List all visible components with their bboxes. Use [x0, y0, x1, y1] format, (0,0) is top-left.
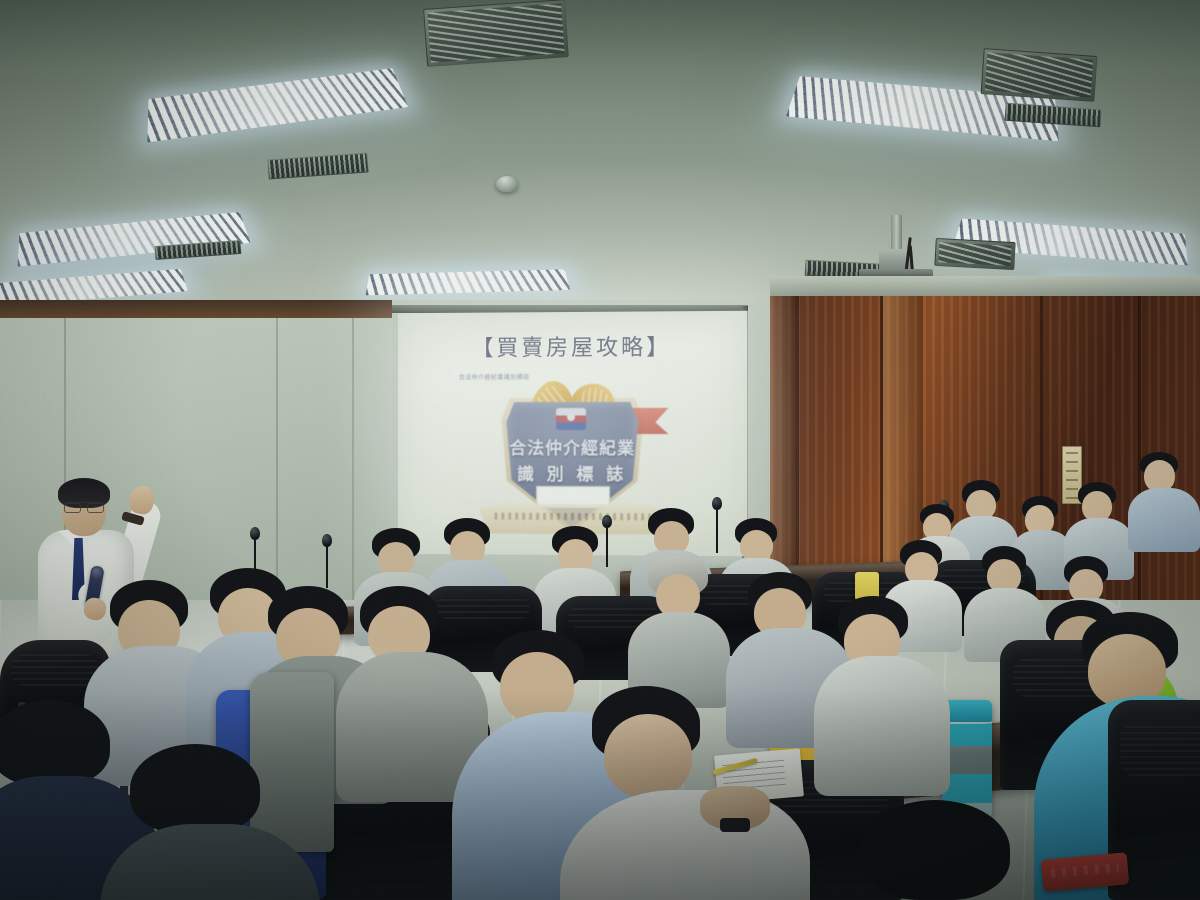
ac-diffuser	[423, 0, 569, 67]
smoke-detector	[496, 176, 518, 192]
photo-scene: 【買賣房屋攻略】 合法仲介經紀業識別標誌 合法仲介經紀業 識 別 標 誌	[0, 0, 1200, 900]
crest-line-1: 合法仲介經紀業	[475, 434, 671, 459]
ceiling	[0, 0, 1200, 310]
crest-line-2: 識 別 標 誌	[475, 460, 671, 485]
eyeglasses	[64, 502, 104, 511]
desk-microphone[interactable]	[712, 497, 722, 553]
desk-microphone[interactable]	[322, 534, 332, 588]
backpack-strap	[250, 672, 334, 852]
ceiling-light-haze	[0, 0, 1200, 310]
desk-microphone[interactable]	[602, 515, 612, 567]
slide-title: 【買賣房屋攻略】	[398, 329, 748, 363]
projection-screen: 【買賣房屋攻略】 合法仲介經紀業識別標誌 合法仲介經紀業 識 別 標 誌	[398, 311, 748, 556]
national-emblem-icon	[556, 408, 586, 430]
ac-diffuser	[981, 48, 1098, 102]
certification-crest: 合法仲介經紀業 識 別 標 誌	[475, 378, 671, 539]
wristwatch	[720, 818, 750, 832]
